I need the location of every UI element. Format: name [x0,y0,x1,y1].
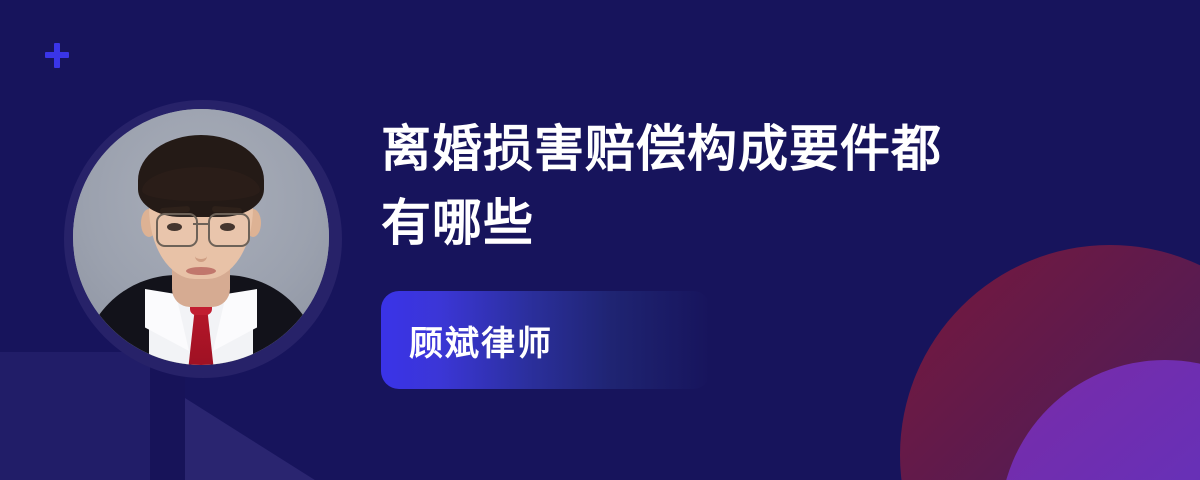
content-block: 离婚损害赔偿构成要件都 有哪些 [381,112,1101,260]
decor-triangle-wedge [185,398,318,480]
decor-circle-crimson [900,245,1200,480]
decor-circle-purple [1000,360,1200,480]
lawyer-name-button[interactable]: 顾斌律师 [381,291,711,389]
page-title: 离婚损害赔偿构成要件都 有哪些 [381,112,1101,260]
portrait-mouth [186,267,216,275]
portrait-glasses-right-lens [208,213,250,247]
plus-icon [45,43,69,68]
portrait-glasses-left-lens [156,213,198,247]
portrait-glasses-bridge [193,223,209,225]
portrait-illustration [73,109,329,365]
avatar-photo [73,109,329,365]
portrait-nose [195,243,207,262]
avatar [64,100,342,378]
lawyer-question-banner: 离婚损害赔偿构成要件都 有哪些 顾斌律师 [0,0,1200,480]
